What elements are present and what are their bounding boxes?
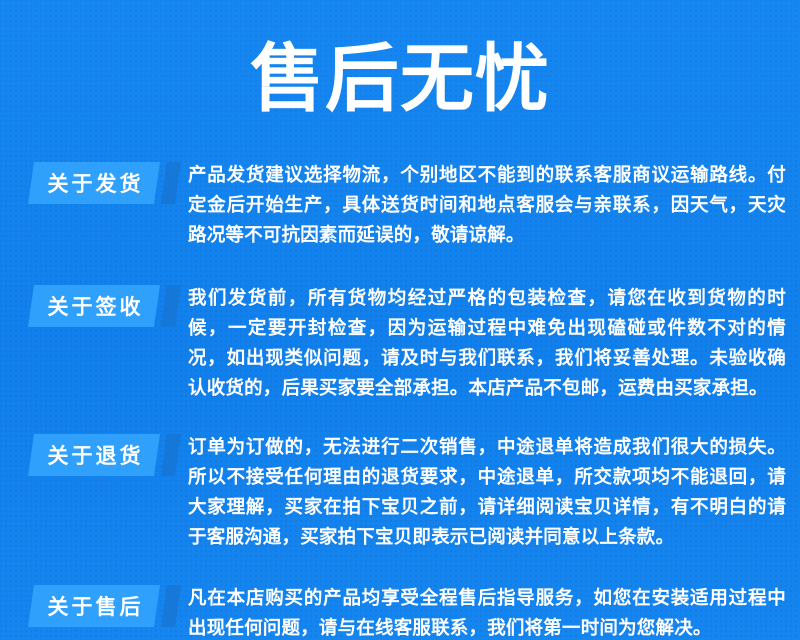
section-label-text: 关于退货 [28,434,160,476]
policy-section-receipt: 关于签收 我们发货前，所有货物均经过严格的包装检查，请您在收到货物的时候，一定要… [0,283,800,404]
policy-section-returns: 关于退货 订单为订做的，无法进行二次销售，中途退单将造成我们很大的损失。所以不接… [0,432,800,553]
section-body-text: 订单为订做的，无法进行二次销售，中途退单将造成我们很大的损失。所以不接受任何理由… [188,433,790,553]
section-label-text: 关于售后 [28,585,160,627]
section-body-text: 产品发货建议选择物流，个别地区不能到的联系客服商议运输路线。付定金后开始生产，具… [188,161,790,251]
section-label-returns: 关于退货 [28,434,188,476]
ribbon-fold-icon [161,585,181,627]
section-label-text: 关于签收 [28,285,160,327]
section-body-text: 凡在本店购买的产品均享受全程售后指导服务，如您在安装适用过程中出现任何问题，请与… [188,584,790,640]
ribbon-fold-icon [161,285,181,327]
section-label-shipping: 关于发货 [28,162,188,204]
section-label-text: 关于发货 [28,162,160,204]
page-title: 售后无忧 [250,42,550,116]
policy-section-shipping: 关于发货 产品发货建议选择物流，个别地区不能到的联系客服商议运输路线。付定金后开… [0,160,800,251]
policy-sections: 关于发货 产品发货建议选择物流，个别地区不能到的联系客服商议运输路线。付定金后开… [0,152,800,640]
page-header: 售后无忧 [0,0,800,152]
section-body-text: 我们发货前，所有货物均经过严格的包装检查，请您在收到货物的时候，一定要开封检查，… [188,284,790,404]
ribbon-fold-icon [161,162,181,204]
section-label-aftersales: 关于售后 [28,585,188,627]
section-label-receipt: 关于签收 [28,285,188,327]
policy-section-aftersales: 关于售后 凡在本店购买的产品均享受全程售后指导服务，如您在安装适用过程中出现任何… [0,583,800,640]
ribbon-fold-icon [161,434,181,476]
